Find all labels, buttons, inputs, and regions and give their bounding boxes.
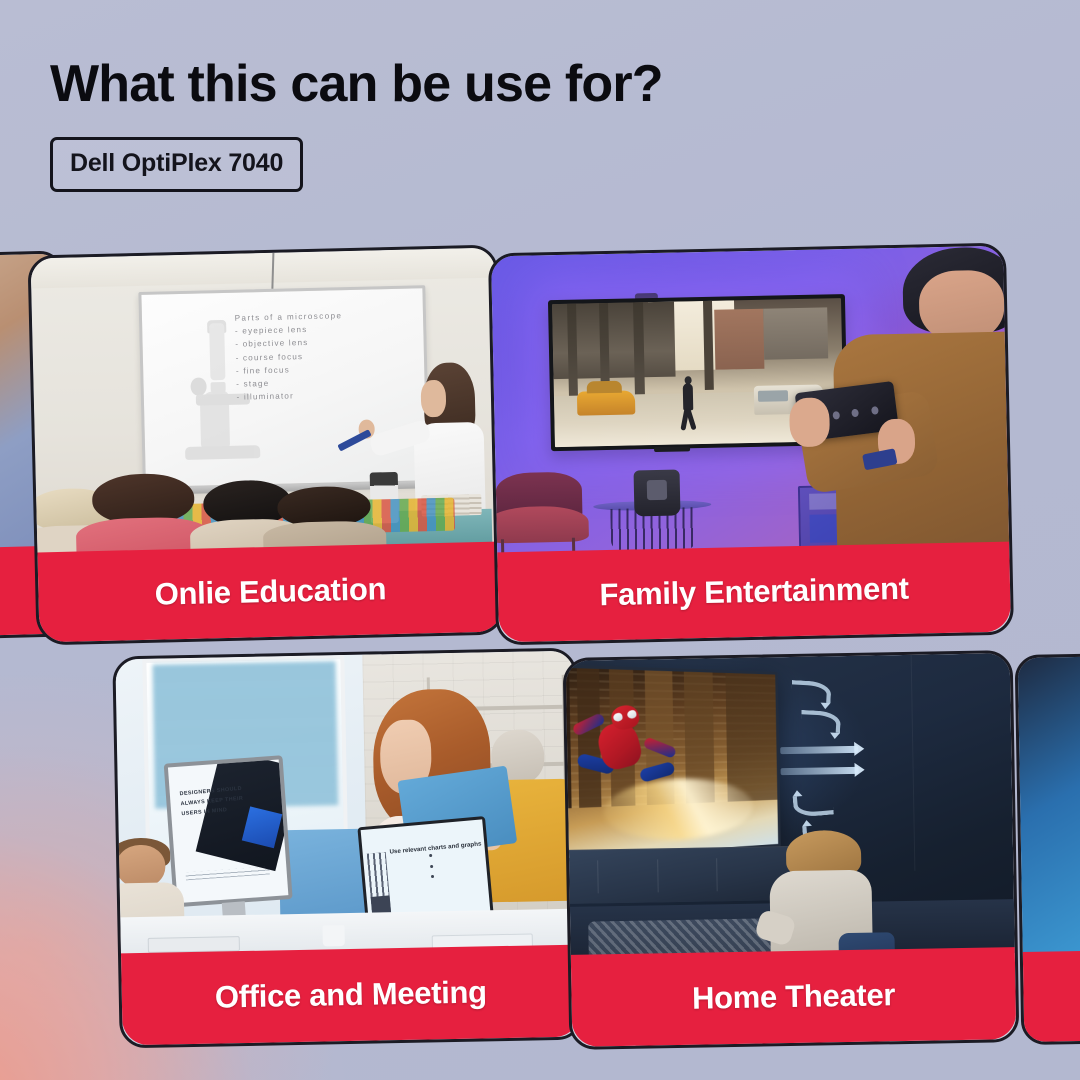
classroom-wall [31,248,496,289]
tv-cabinet [566,846,792,904]
airflow-arrow-straight [780,746,858,754]
projection-screen [566,664,781,863]
smart-speaker [634,470,681,516]
home-theater-scene [566,653,1015,961]
header: What this can be use for? Dell OptiPlex … [50,56,950,192]
card-family-entertainment[interactable]: Family Entertainment [488,243,1014,646]
airflow-arrow-curved [793,793,834,817]
office-scene: DESIGNERS SHOULD ALWAYS KEEP THEIR USERS… [115,651,579,960]
armchair [491,472,589,558]
monitor-slide-text: DESIGNERS SHOULD ALWAYS KEEP THEIR USERS… [180,783,251,819]
office-photo: DESIGNERS SHOULD ALWAYS KEEP THEIR USERS… [115,651,579,960]
airflow-arrow-curved [791,680,832,703]
home-theater-photo [566,653,1015,961]
students-row [35,446,501,559]
spiderman-figure [570,698,677,808]
card-edge-right-banner [1023,950,1080,1042]
tv-car [577,390,635,416]
living-room-photo [491,246,1009,559]
whiteboard-text: Parts of a microscope - eyepiece lens - … [235,308,412,404]
card-home-theater[interactable]: Home Theater [563,650,1020,1050]
desk-cup [322,925,345,946]
model-badge: Dell OptiPlex 7040 [50,137,303,192]
airflow-arrow-straight [781,767,859,775]
card-label-family-entertainment: Family Entertainment [497,542,1011,643]
card-online-education[interactable]: Parts of a microscope - eyepiece lens - … [27,245,506,646]
movie-frame [566,667,779,859]
page-title: What this can be use for? [50,56,950,112]
classroom-photo: Parts of a microscope - eyepiece lens - … [31,248,502,559]
card-edge-right-partial [1015,653,1080,1045]
card-label-office-meeting: Office and Meeting [121,945,581,1046]
man-with-tablet [798,246,1009,559]
card-label-online-education: Onlie Education [37,542,503,643]
tv-running-person [681,376,695,428]
card-label-home-theater: Home Theater [571,947,1017,1047]
child-watching [773,829,882,960]
wall-seam [911,655,916,871]
card-office-meeting[interactable]: DESIGNERS SHOULD ALWAYS KEEP THEIR USERS… [112,648,583,1049]
tv-foot [654,446,690,452]
classroom-scene: Parts of a microscope - eyepiece lens - … [31,248,502,559]
living-room-scene [491,246,1009,559]
card-edge-right-photo [1018,656,1080,956]
airflow-arrow-curved [800,710,841,733]
keyboard-left [148,936,240,953]
promo-page: What this can be use for? Dell OptiPlex … [0,0,1080,1080]
student [91,473,195,558]
